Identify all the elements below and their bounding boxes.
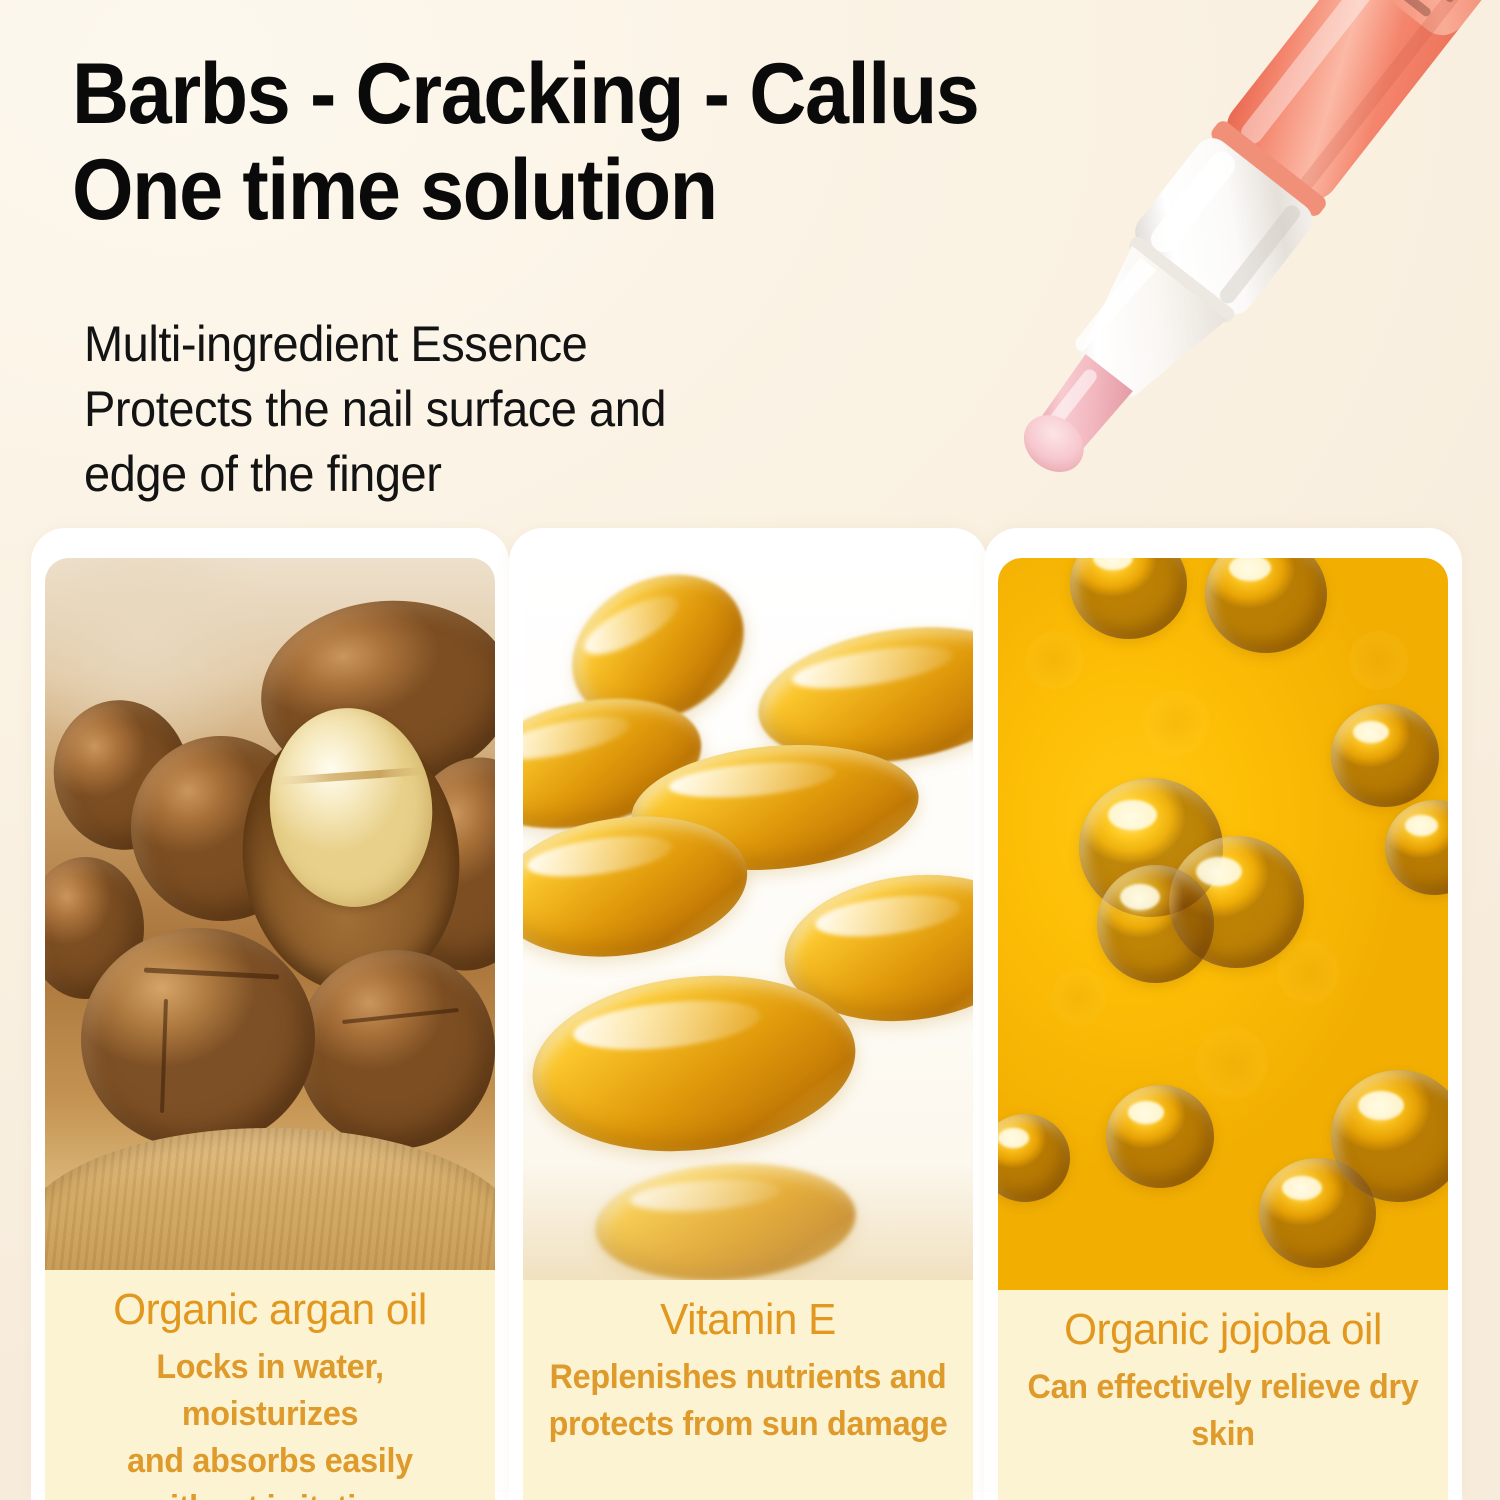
pen-barrel-top-sheen: [1346, 0, 1500, 45]
ingredient-card-organic-argan-oil[interactable]: Organic argan oil Locks in water, moistu…: [31, 528, 509, 1500]
pen-ring: [1208, 118, 1329, 219]
pen-collar: [1128, 131, 1320, 321]
ingredient-card-vitamin-e[interactable]: Vitamin E Replenishes nutrients and prot…: [509, 528, 987, 1500]
pen-barrel-shadow: [1298, 0, 1500, 191]
card-caption: Vitamin E Replenishes nutrients and prot…: [523, 1280, 973, 1500]
card-body: Can effectively relieve dry skin: [1021, 1364, 1426, 1458]
pen-applicator: [1030, 354, 1133, 463]
card-caption: Organic argan oil Locks in water, moistu…: [45, 1270, 495, 1500]
pen-applicator-tip: [1013, 403, 1095, 483]
pen-barrel: [1216, 0, 1500, 210]
pen-cone-highlight: [1072, 258, 1156, 358]
ingredient-card-row: Organic argan oil Locks in water, moistu…: [0, 528, 1500, 1500]
pen-tip-cone: [1053, 246, 1227, 422]
pen-barrel-highlight: [1237, 0, 1445, 148]
pen-label-print: [1372, 0, 1489, 24]
card-photo-jojoba-oil-bubbles: [998, 558, 1448, 1290]
pen-step-ring: [1126, 234, 1237, 325]
page-subheadline: Multi-ingredient Essence Protects the na…: [84, 312, 874, 507]
pen-applicator-highlight: [1048, 367, 1100, 428]
card-photo-macadamia-nuts: [45, 558, 495, 1270]
card-photo-vitamin-e-capsules: [523, 558, 973, 1280]
card-caption: Organic jojoba oil Can effectively relie…: [998, 1290, 1448, 1500]
ingredient-card-organic-jojoba-oil[interactable]: Organic jojoba oil Can effectively relie…: [984, 528, 1462, 1500]
card-title: Vitamin E: [544, 1294, 953, 1346]
card-title: Organic jojoba oil: [1019, 1304, 1428, 1356]
wooden-bowl: [45, 1128, 495, 1270]
pen-collar-shadow: [1217, 202, 1303, 306]
pen-collar-highlight: [1146, 147, 1240, 258]
card-body: Replenishes nutrients and protects from …: [546, 1354, 951, 1448]
card-body: Locks in water, moisturizes and absorbs …: [68, 1344, 473, 1500]
infographic-page: Barbs - Cracking - Callus One time solut…: [0, 0, 1500, 1500]
card-title: Organic argan oil: [66, 1284, 475, 1336]
page-headline: Barbs - Cracking - Callus One time solut…: [72, 46, 1066, 239]
